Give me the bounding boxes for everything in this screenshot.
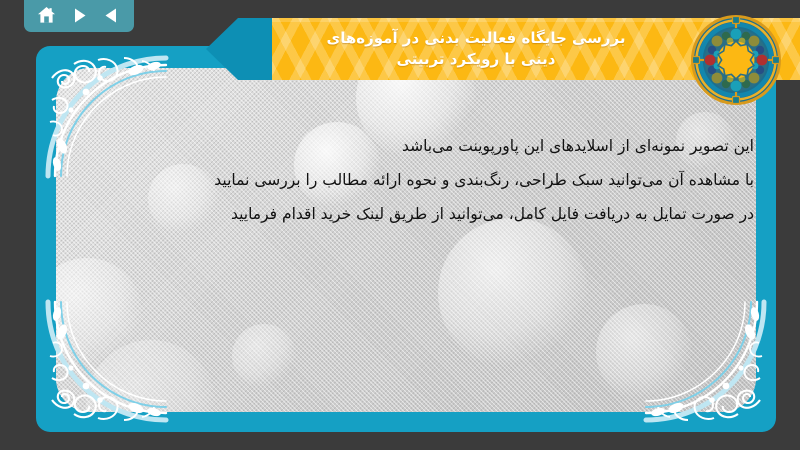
body-line-1: این تصویر نمونه‌ای از اسلایدهای این پاور… [60, 132, 754, 160]
previous-slide-button[interactable] [99, 3, 125, 27]
arabesque-corner-bottom-left-icon [38, 288, 180, 430]
body-line-3: در صورت تمایل به دریافت فایل کامل، می‌تو… [60, 200, 754, 228]
content-frame [36, 46, 776, 432]
circular-medallion-ornament-icon [690, 14, 782, 106]
home-icon [37, 6, 56, 24]
home-button[interactable] [33, 3, 59, 27]
next-triangle-icon [71, 7, 88, 24]
slide-navigation-bar[interactable] [24, 0, 134, 32]
slide-body-text: این تصویر نمونه‌ای از اسلایدهای این پاور… [60, 132, 754, 235]
title-line-1: بررسی جایگاه فعالیت بدنی در آموزه‌های [326, 28, 625, 49]
next-slide-button[interactable] [66, 3, 92, 27]
body-line-2: با مشاهده آن می‌توانید سبک طراحی، رنگ‌بن… [60, 166, 754, 194]
previous-triangle-icon [103, 7, 120, 24]
presentation-slide: این تصویر نمونه‌ای از اسلایدهای این پاور… [0, 0, 800, 450]
arabesque-corner-bottom-right-icon [632, 288, 774, 430]
title-line-2: دینی با رویکرد تربیتی [397, 49, 556, 70]
